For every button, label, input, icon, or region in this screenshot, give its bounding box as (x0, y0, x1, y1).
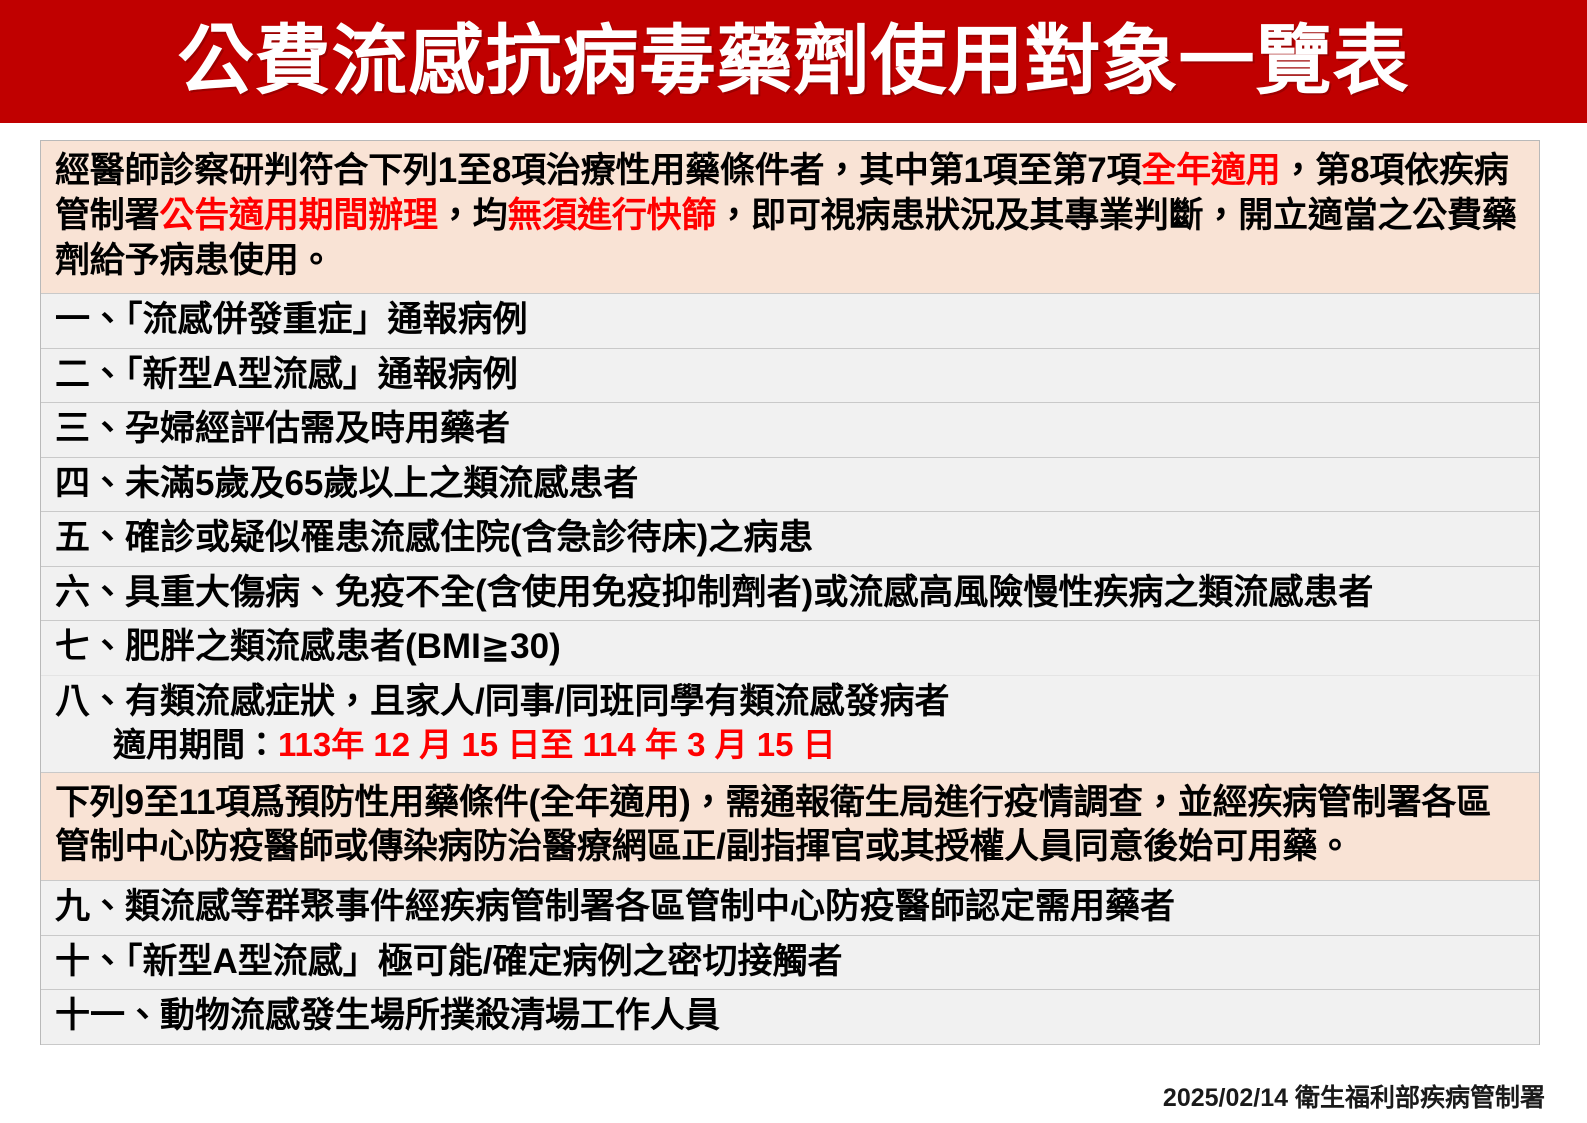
list-item: 五、確診或疑似罹患流感住院(含急診待床)之病患 (41, 512, 1539, 567)
list-item: 七、肥胖之類流感患者(BMI≧30) (41, 621, 1539, 676)
page-title: 公費流感抗病毒藥劑使用對象一覽表 (178, 24, 1410, 100)
note-seg-5: 無須進行快篩 (507, 196, 716, 235)
item-label-4: 四、未滿5歲及65歲以上之類流感患者 (55, 461, 1525, 507)
list-item: 六、具重大傷病、免疫不全(含使用免疫抑制劑者)或流感高風險慢性疾病之類流感患者 (41, 567, 1539, 622)
note-prophylaxis-intro-text: 下列9至11項爲預防性用藥條件(全年適用)，需通報衛生局進行疫情調查，並經疾病管… (55, 781, 1525, 871)
item-label-3: 三、孕婦經評估需及時用藥者 (55, 406, 1525, 452)
list-item: 九、類流感等群聚事件經疾病管制署各區管制中心防疫醫師認定需用藥者 (41, 881, 1539, 936)
item-eight-period: 適用期間：113年 12 月 15 日至 114 年 3 月 15 日 (55, 724, 1525, 766)
note-treatment-intro-text: 經醫師診察研判符合下列1至8項治療性用藥條件者，其中第1項至第7項全年適用，第8… (55, 149, 1525, 283)
item-label-9: 九、類流感等群聚事件經疾病管制署各區管制中心防疫醫師認定需用藥者 (55, 884, 1525, 930)
item-label-7: 七、肥胖之類流感患者(BMI≧30) (55, 624, 1525, 670)
note-seg-1: 全年適用 (1141, 151, 1280, 190)
criteria-table: 經醫師診察研判符合下列1至8項治療性用藥條件者，其中第1項至第7項全年適用，第8… (40, 140, 1540, 1045)
note-prophylaxis-intro: 下列9至11項爲預防性用藥條件(全年適用)，需通報衛生局進行疫情調查，並經疾病管… (41, 773, 1539, 882)
item-label-2: 二、「新型A型流感」通報病例 (55, 352, 1525, 398)
list-item-eight: 八、有類流感症狀，且家人/同事/同班同學有類流感發病者 適用期間：113年 12… (41, 676, 1539, 773)
poster-page: 公費流感抗病毒藥劑使用對象一覽表 經醫師診察研判符合下列1至8項治療性用藥條件者… (0, 0, 1587, 1123)
period-value: 113年 12 月 15 日至 114 年 3 月 15 日 (278, 726, 836, 763)
list-item: 十、「新型A型流感」極可能/確定病例之密切接觸者 (41, 936, 1539, 991)
item-label-5: 五、確診或疑似罹患流感住院(含急診待床)之病患 (55, 515, 1525, 561)
list-item: 十一、動物流感發生場所撲殺清場工作人員 (41, 990, 1539, 1045)
item-label-6: 六、具重大傷病、免疫不全(含使用免疫抑制劑者)或流感高風險慢性疾病之類流感患者 (55, 570, 1525, 616)
list-item: 三、孕婦經評估需及時用藥者 (41, 403, 1539, 458)
item-label-1: 一、「流感併發重症」通報病例 (55, 297, 1525, 343)
item-label-10: 十、「新型A型流感」極可能/確定病例之密切接觸者 (55, 939, 1525, 985)
item-label-11: 十一、動物流感發生場所撲殺清場工作人員 (55, 993, 1525, 1039)
list-item: 四、未滿5歲及65歲以上之類流感患者 (41, 458, 1539, 513)
list-item: 二、「新型A型流感」通報病例 (41, 349, 1539, 404)
note-treatment-intro: 經醫師診察研判符合下列1至8項治療性用藥條件者，其中第1項至第7項全年適用，第8… (41, 141, 1539, 294)
note-seg-3: 公告適用期間辦理 (159, 196, 437, 235)
title-banner: 公費流感抗病毒藥劑使用對象一覽表 (0, 0, 1587, 123)
footer-source: 2025/02/14 衛生福利部疾病管制署 (1163, 1078, 1545, 1114)
list-item: 一、「流感併發重症」通報病例 (41, 294, 1539, 349)
note-seg-0: 經醫師診察研判符合下列1至8項治療性用藥條件者，其中第1項至第7項 (55, 151, 1141, 190)
note-seg-4: ，均 (438, 196, 508, 235)
period-prefix: 適用期間： (113, 726, 278, 763)
item-label-8: 八、有類流感症狀，且家人/同事/同班同學有類流感發病者 (55, 679, 1525, 725)
